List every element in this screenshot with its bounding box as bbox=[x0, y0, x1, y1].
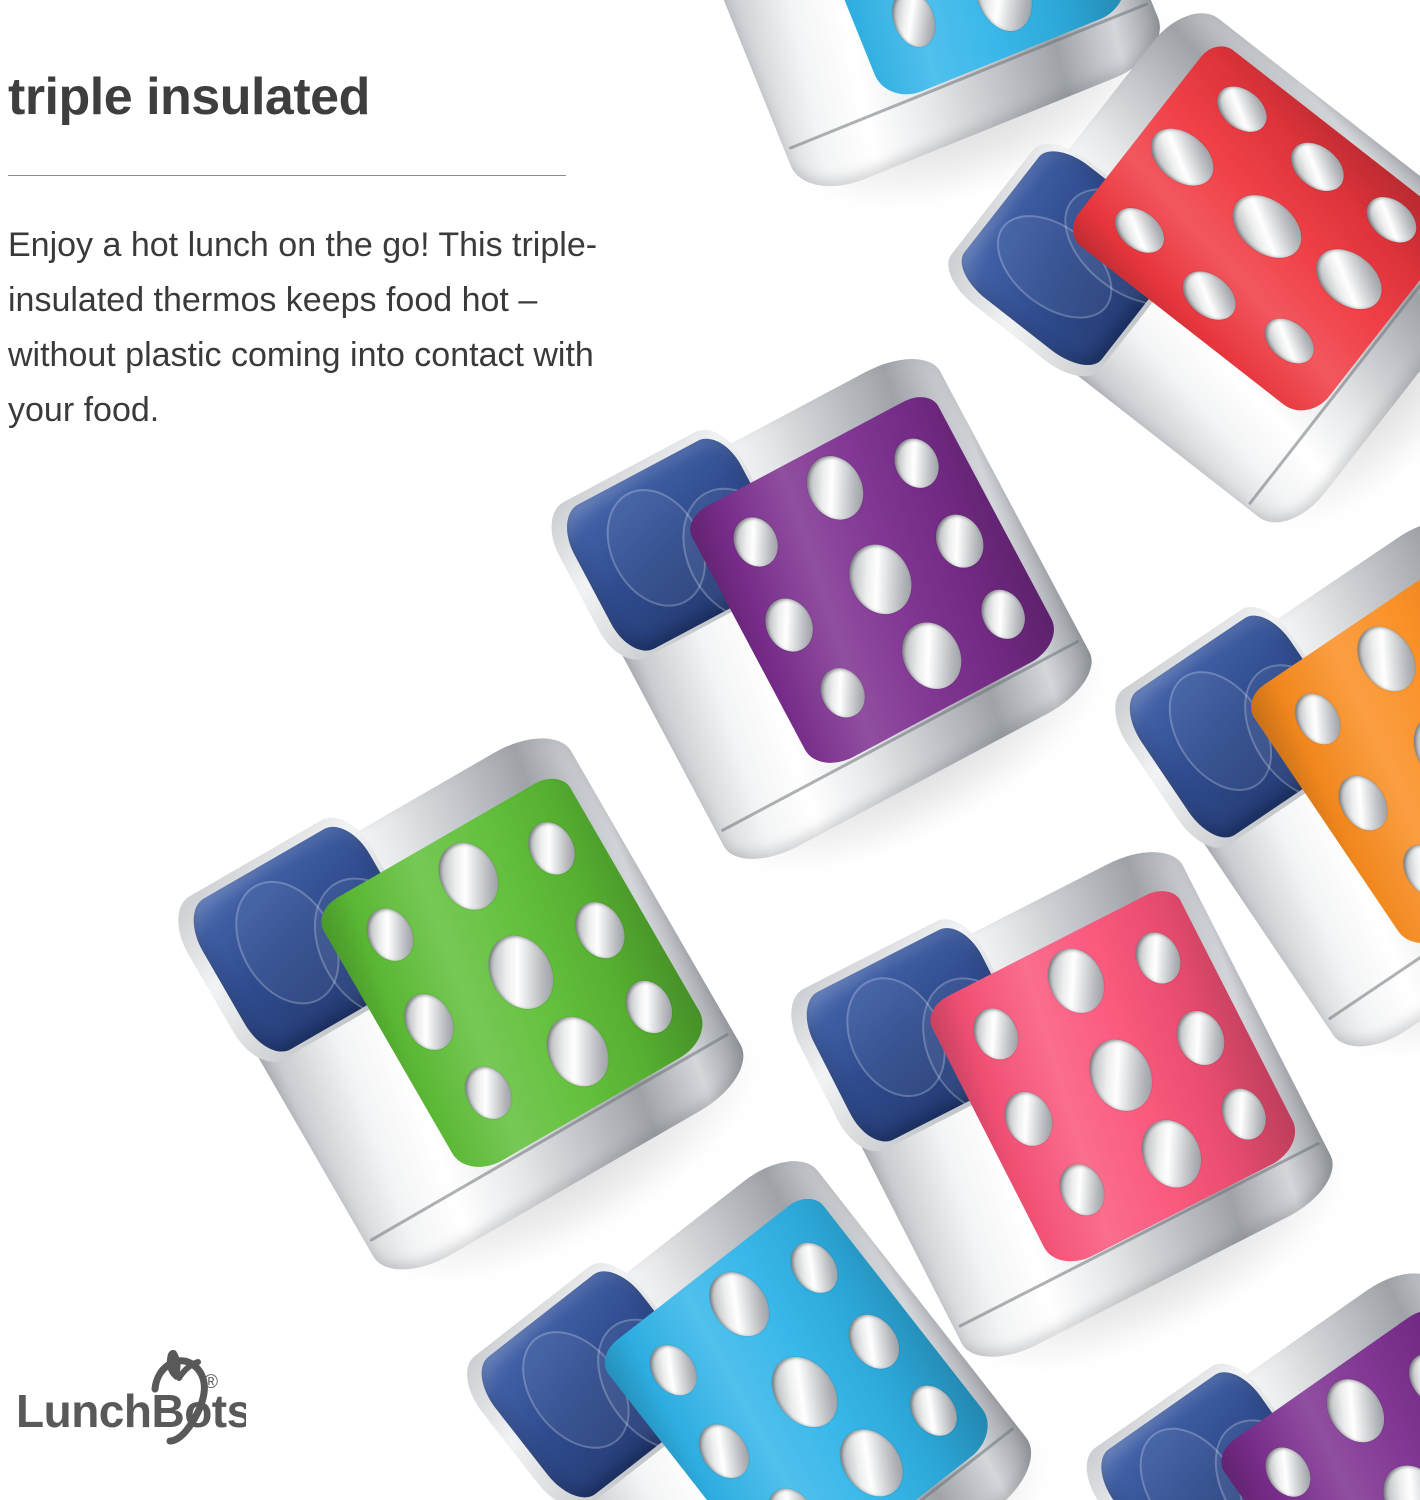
divider bbox=[8, 175, 566, 176]
product-marketing-image: triple insulated Enjoy a hot lunch on th… bbox=[0, 0, 1420, 1500]
text-panel: triple insulated Enjoy a hot lunch on th… bbox=[8, 70, 608, 472]
brand-logo: ® LunchBots bbox=[16, 1345, 246, 1455]
logo-wordmark: LunchBots bbox=[16, 1385, 246, 1437]
page-title: triple insulated bbox=[8, 70, 608, 125]
body-copy: Enjoy a hot lunch on the go! This triple… bbox=[8, 218, 608, 438]
